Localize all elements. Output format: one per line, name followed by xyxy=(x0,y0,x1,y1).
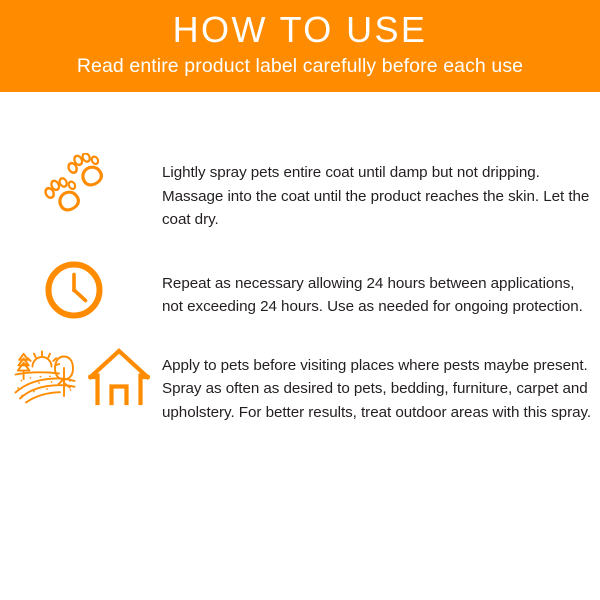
step-1-text: Lightly spray pets entire coat until dam… xyxy=(162,161,600,232)
header-banner: HOW TO USE Read entire product label car… xyxy=(0,0,600,92)
step-2-icon-cell xyxy=(0,260,162,320)
step-1-icon-cell xyxy=(0,153,162,219)
step-2-text: Repeat as necessary allowing 24 hours be… xyxy=(162,272,600,319)
house-icon xyxy=(88,348,150,406)
outdoor-landscape-icon xyxy=(14,348,76,406)
page-subtitle: Read entire product label carefully befo… xyxy=(77,53,523,79)
list-item: Apply to pets before visiting places whe… xyxy=(0,348,600,425)
how-to-use-infographic: HOW TO USE Read entire product label car… xyxy=(0,0,600,600)
list-item: Lightly spray pets entire coat until dam… xyxy=(0,153,600,232)
instruction-steps-list: Lightly spray pets entire coat until dam… xyxy=(0,92,600,424)
paw-prints-icon xyxy=(42,153,108,219)
step-3-icon-cell xyxy=(0,348,162,406)
step-3-text: Apply to pets before visiting places whe… xyxy=(162,354,600,425)
page-title: HOW TO USE xyxy=(173,9,428,51)
clock-icon xyxy=(44,260,104,320)
step-3-icon-pair xyxy=(14,348,150,406)
list-item: Repeat as necessary allowing 24 hours be… xyxy=(0,260,600,320)
